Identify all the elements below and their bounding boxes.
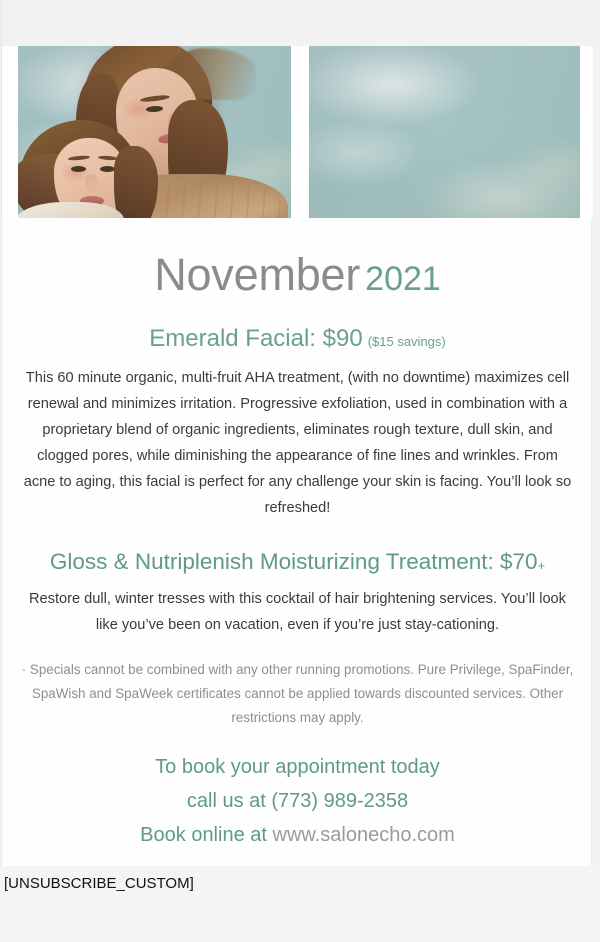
hero-image-models[interactable] bbox=[18, 46, 291, 218]
title-month: November bbox=[154, 249, 360, 300]
sky-clouds-backdrop bbox=[309, 46, 580, 218]
offer-title-facial: Emerald Facial: $90 bbox=[149, 325, 362, 352]
model-front-eye-right bbox=[100, 166, 115, 172]
models-photo-illustration bbox=[18, 46, 291, 218]
cta-line-booking: To book your appointment today bbox=[2, 750, 593, 784]
model-front-hair-right bbox=[114, 146, 158, 218]
offer-description-gloss: Restore dull, winter tresses with this c… bbox=[20, 574, 576, 638]
unsubscribe-link[interactable]: [UNSUBSCRIBE_CUSTOM] bbox=[4, 874, 194, 894]
hero-section bbox=[2, 0, 593, 218]
offer-heading-gloss: Gloss & Nutriplenish Moisturizing Treatm… bbox=[2, 521, 593, 574]
page-title: November2021 bbox=[2, 218, 593, 297]
model-front-eye-left bbox=[71, 166, 86, 172]
hero-image-sky[interactable] bbox=[309, 46, 580, 218]
cta-line-website: Book online at www.salonecho.com bbox=[2, 818, 593, 852]
offer-title-gloss: Gloss & Nutriplenish Moisturizing Treatm… bbox=[50, 549, 538, 574]
offer-savings-facial: ($15 savings) bbox=[363, 334, 446, 349]
model-front-nose bbox=[85, 174, 98, 192]
cta-line-phone[interactable]: call us at (773) 989-2358 bbox=[2, 784, 593, 818]
email-body: November2021 Emerald Facial: $90($15 sav… bbox=[2, 218, 593, 852]
offer-description-facial: This 60 minute organic, multi-fruit AHA … bbox=[20, 351, 576, 521]
email-footer: [UNSUBSCRIBE_CUSTOM] bbox=[0, 866, 600, 942]
email-page: November2021 Emerald Facial: $90($15 sav… bbox=[0, 0, 600, 866]
title-year: 2021 bbox=[360, 260, 441, 298]
fineprint-disclaimer: · Specials cannot be combined with any o… bbox=[18, 638, 578, 730]
cta-website-link[interactable]: www.salonecho.com bbox=[273, 824, 455, 846]
cta-website-prefix: Book online at bbox=[140, 824, 272, 846]
cta-block: To book your appointment today call us a… bbox=[2, 730, 593, 852]
email-card: November2021 Emerald Facial: $90($15 sav… bbox=[1, 0, 592, 866]
offer-heading-facial: Emerald Facial: $90($15 savings) bbox=[2, 297, 593, 351]
offer-title-gloss-suffix: + bbox=[538, 558, 546, 573]
